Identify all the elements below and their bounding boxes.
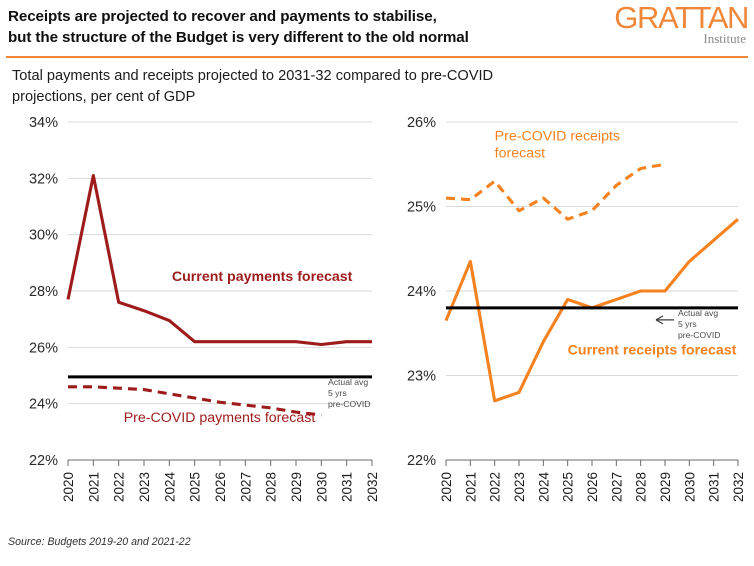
y-axis-tick-label: 34% — [29, 115, 58, 131]
y-axis-tick-label: 30% — [29, 228, 58, 244]
reference-annotation-line-2: 5 yrs — [328, 388, 347, 398]
x-axis-tick-label: 2028 — [634, 472, 649, 502]
y-axis-tick-label: 28% — [29, 284, 58, 300]
payments-chart-panel: 22%24%26%28%30%32%34%2020202120222023202… — [0, 110, 395, 510]
series-line-current-payments-forecast — [68, 176, 372, 345]
x-axis-tick-label: 2032 — [365, 472, 380, 502]
y-axis-tick-label: 23% — [407, 369, 436, 385]
x-axis-tick-label: 2022 — [112, 472, 127, 502]
y-axis-tick-label: 22% — [407, 453, 436, 469]
reference-annotation-line-1: Actual avg — [328, 377, 368, 387]
x-axis-tick-label: 2025 — [561, 472, 576, 502]
series-label-current-receipts-forecast: Current receipts forecast — [568, 342, 737, 358]
page-title: Receipts are projected to recover and pa… — [8, 7, 628, 49]
series-line-pre-covid-receipts-forecast — [446, 164, 665, 219]
series-label-line-2: forecast — [495, 146, 546, 162]
x-axis-tick-label: 2024 — [536, 472, 551, 503]
reference-annotation-line-3: pre-COVID — [678, 330, 721, 340]
y-axis-tick-label: 24% — [29, 397, 58, 413]
source-note: Source: Budgets 2019-20 and 2021-22 — [8, 536, 191, 548]
page-title-line-1: Receipts are projected to recover and pa… — [8, 7, 628, 28]
y-axis-tick-label: 26% — [407, 115, 436, 131]
x-axis-tick-label: 2020 — [61, 472, 76, 502]
y-axis-tick-label: 22% — [29, 453, 58, 469]
x-axis-tick-label: 2028 — [264, 472, 279, 502]
x-axis-tick-label: 2021 — [86, 472, 101, 502]
x-axis-tick-label: 2023 — [512, 472, 527, 502]
y-axis-tick-label: 32% — [29, 171, 58, 187]
x-axis-tick-label: 2020 — [439, 472, 454, 502]
chart-subtitle-line-1: Total payments and receipts projected to… — [12, 66, 652, 87]
x-axis-tick-label: 2032 — [731, 472, 746, 502]
x-axis-tick-label: 2022 — [488, 472, 503, 502]
x-axis-tick-label: 2024 — [162, 472, 177, 503]
x-axis-tick-label: 2029 — [289, 472, 304, 502]
series-label-current-payments-forecast: Current payments forecast — [172, 269, 353, 285]
chart-header: Receipts are projected to recover and pa… — [0, 0, 754, 60]
x-axis-tick-label: 2031 — [707, 472, 722, 502]
reference-annotation-line-2: 5 yrs — [678, 319, 697, 329]
x-axis-tick-label: 2026 — [585, 472, 600, 502]
x-axis-tick-label: 2021 — [463, 472, 478, 502]
logo-wordmark: GRATTAN — [600, 2, 748, 34]
x-axis-tick-label: 2026 — [213, 472, 228, 502]
x-axis-tick-label: 2023 — [137, 472, 152, 502]
x-axis-tick-label: 2031 — [340, 472, 355, 502]
x-axis-tick-label: 2027 — [609, 472, 624, 502]
header-divider — [6, 56, 748, 58]
reference-annotation-line-1: Actual avg — [678, 308, 718, 318]
page-title-line-2: but the structure of the Budget is very … — [8, 28, 628, 49]
y-axis-tick-label: 24% — [407, 284, 436, 300]
x-axis-tick-label: 2025 — [188, 472, 203, 502]
series-label-line-1: Pre-COVID receipts — [495, 129, 620, 145]
payments-chart-svg: 22%24%26%28%30%32%34%2020202120222023202… — [0, 110, 395, 510]
y-axis-tick-label: 25% — [407, 200, 436, 216]
series-label-pre-covid-payments-forecast: Pre-COVID payments forecast — [124, 410, 316, 426]
receipts-chart-panel: 22%23%24%25%26%2020202120222023202420252… — [380, 110, 754, 510]
x-axis-tick-label: 2030 — [314, 472, 329, 502]
x-axis-tick-label: 2029 — [658, 472, 673, 502]
x-axis-tick-label: 2027 — [238, 472, 253, 502]
x-axis-tick-label: 2030 — [682, 472, 697, 502]
chart-subtitle-line-2: projections, per cent of GDP — [12, 87, 652, 108]
series-label-pre-covid-receipts-forecast: Pre-COVID receiptsforecast — [495, 129, 620, 162]
receipts-chart-svg: 22%23%24%25%26%2020202120222023202420252… — [380, 110, 754, 510]
chart-subtitle: Total payments and receipts projected to… — [12, 66, 652, 108]
y-axis-tick-label: 26% — [29, 340, 58, 356]
reference-annotation-line-3: pre-COVID — [328, 399, 371, 409]
grattan-logo: GRATTAN Institute — [600, 2, 748, 52]
